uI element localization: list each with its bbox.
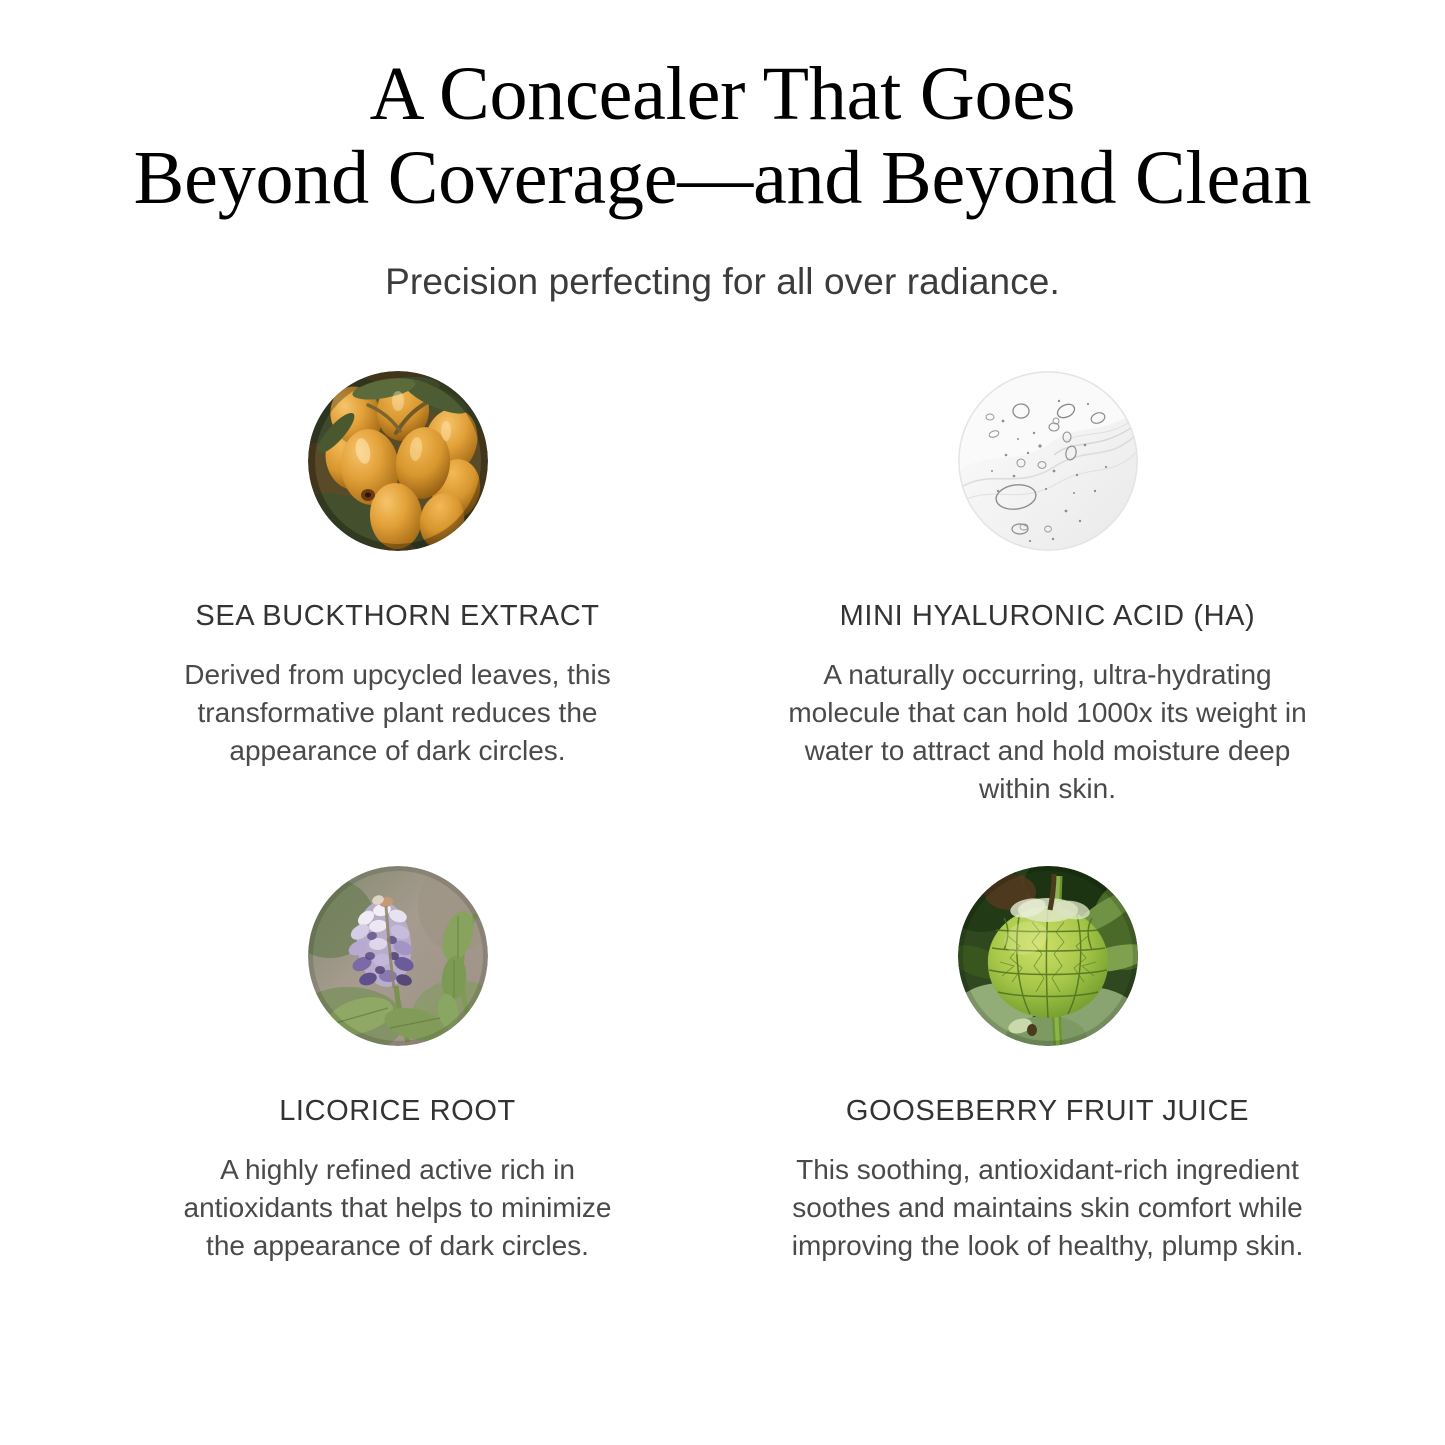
- sea-buckthorn-berries-photo: [308, 371, 488, 551]
- headline-line-2: Beyond Coverage—and Beyond Clean: [60, 136, 1385, 220]
- ingredient-grid: SEA BUCKTHORN EXTRACT Derived from upcyc…: [73, 371, 1373, 1265]
- header-section: A Concealer That Goes Beyond Coverage—an…: [0, 0, 1445, 303]
- ingredient-card-licorice-root: LICORICE ROOT A highly refined active ri…: [73, 866, 723, 1265]
- ingredient-title: GOOSEBERRY FRUIT JUICE: [846, 1094, 1249, 1129]
- licorice-root-flower-photo: [308, 866, 488, 1046]
- ingredient-title: LICORICE ROOT: [279, 1094, 516, 1129]
- ingredient-description: A naturally occurring, ultra-hydrating m…: [783, 656, 1313, 808]
- ingredient-title: MINI HYALURONIC ACID (HA): [840, 599, 1256, 634]
- ingredient-description: A highly refined active rich in antioxid…: [163, 1151, 633, 1265]
- page-title: A Concealer That Goes Beyond Coverage—an…: [0, 52, 1445, 221]
- ingredient-title: SEA BUCKTHORN EXTRACT: [195, 599, 599, 634]
- ingredient-description: This soothing, antioxidant-rich ingredie…: [783, 1151, 1313, 1265]
- ingredient-card-hyaluronic-acid: MINI HYALURONIC ACID (HA) A naturally oc…: [723, 371, 1373, 808]
- headline-line-1: A Concealer That Goes: [60, 52, 1385, 136]
- page-subtitle: Precision perfecting for all over radian…: [0, 261, 1445, 303]
- ingredient-description: Derived from upcycled leaves, this trans…: [163, 656, 633, 770]
- ingredient-card-gooseberry: GOOSEBERRY FRUIT JUICE This soothing, an…: [723, 866, 1373, 1265]
- product-ingredients-infographic: A Concealer That Goes Beyond Coverage—an…: [0, 0, 1445, 1445]
- ingredient-card-sea-buckthorn: SEA BUCKTHORN EXTRACT Derived from upcyc…: [73, 371, 723, 808]
- gooseberry-fruit-husk-photo: [958, 866, 1138, 1046]
- hyaluronic-acid-gel-texture-photo: [958, 371, 1138, 551]
